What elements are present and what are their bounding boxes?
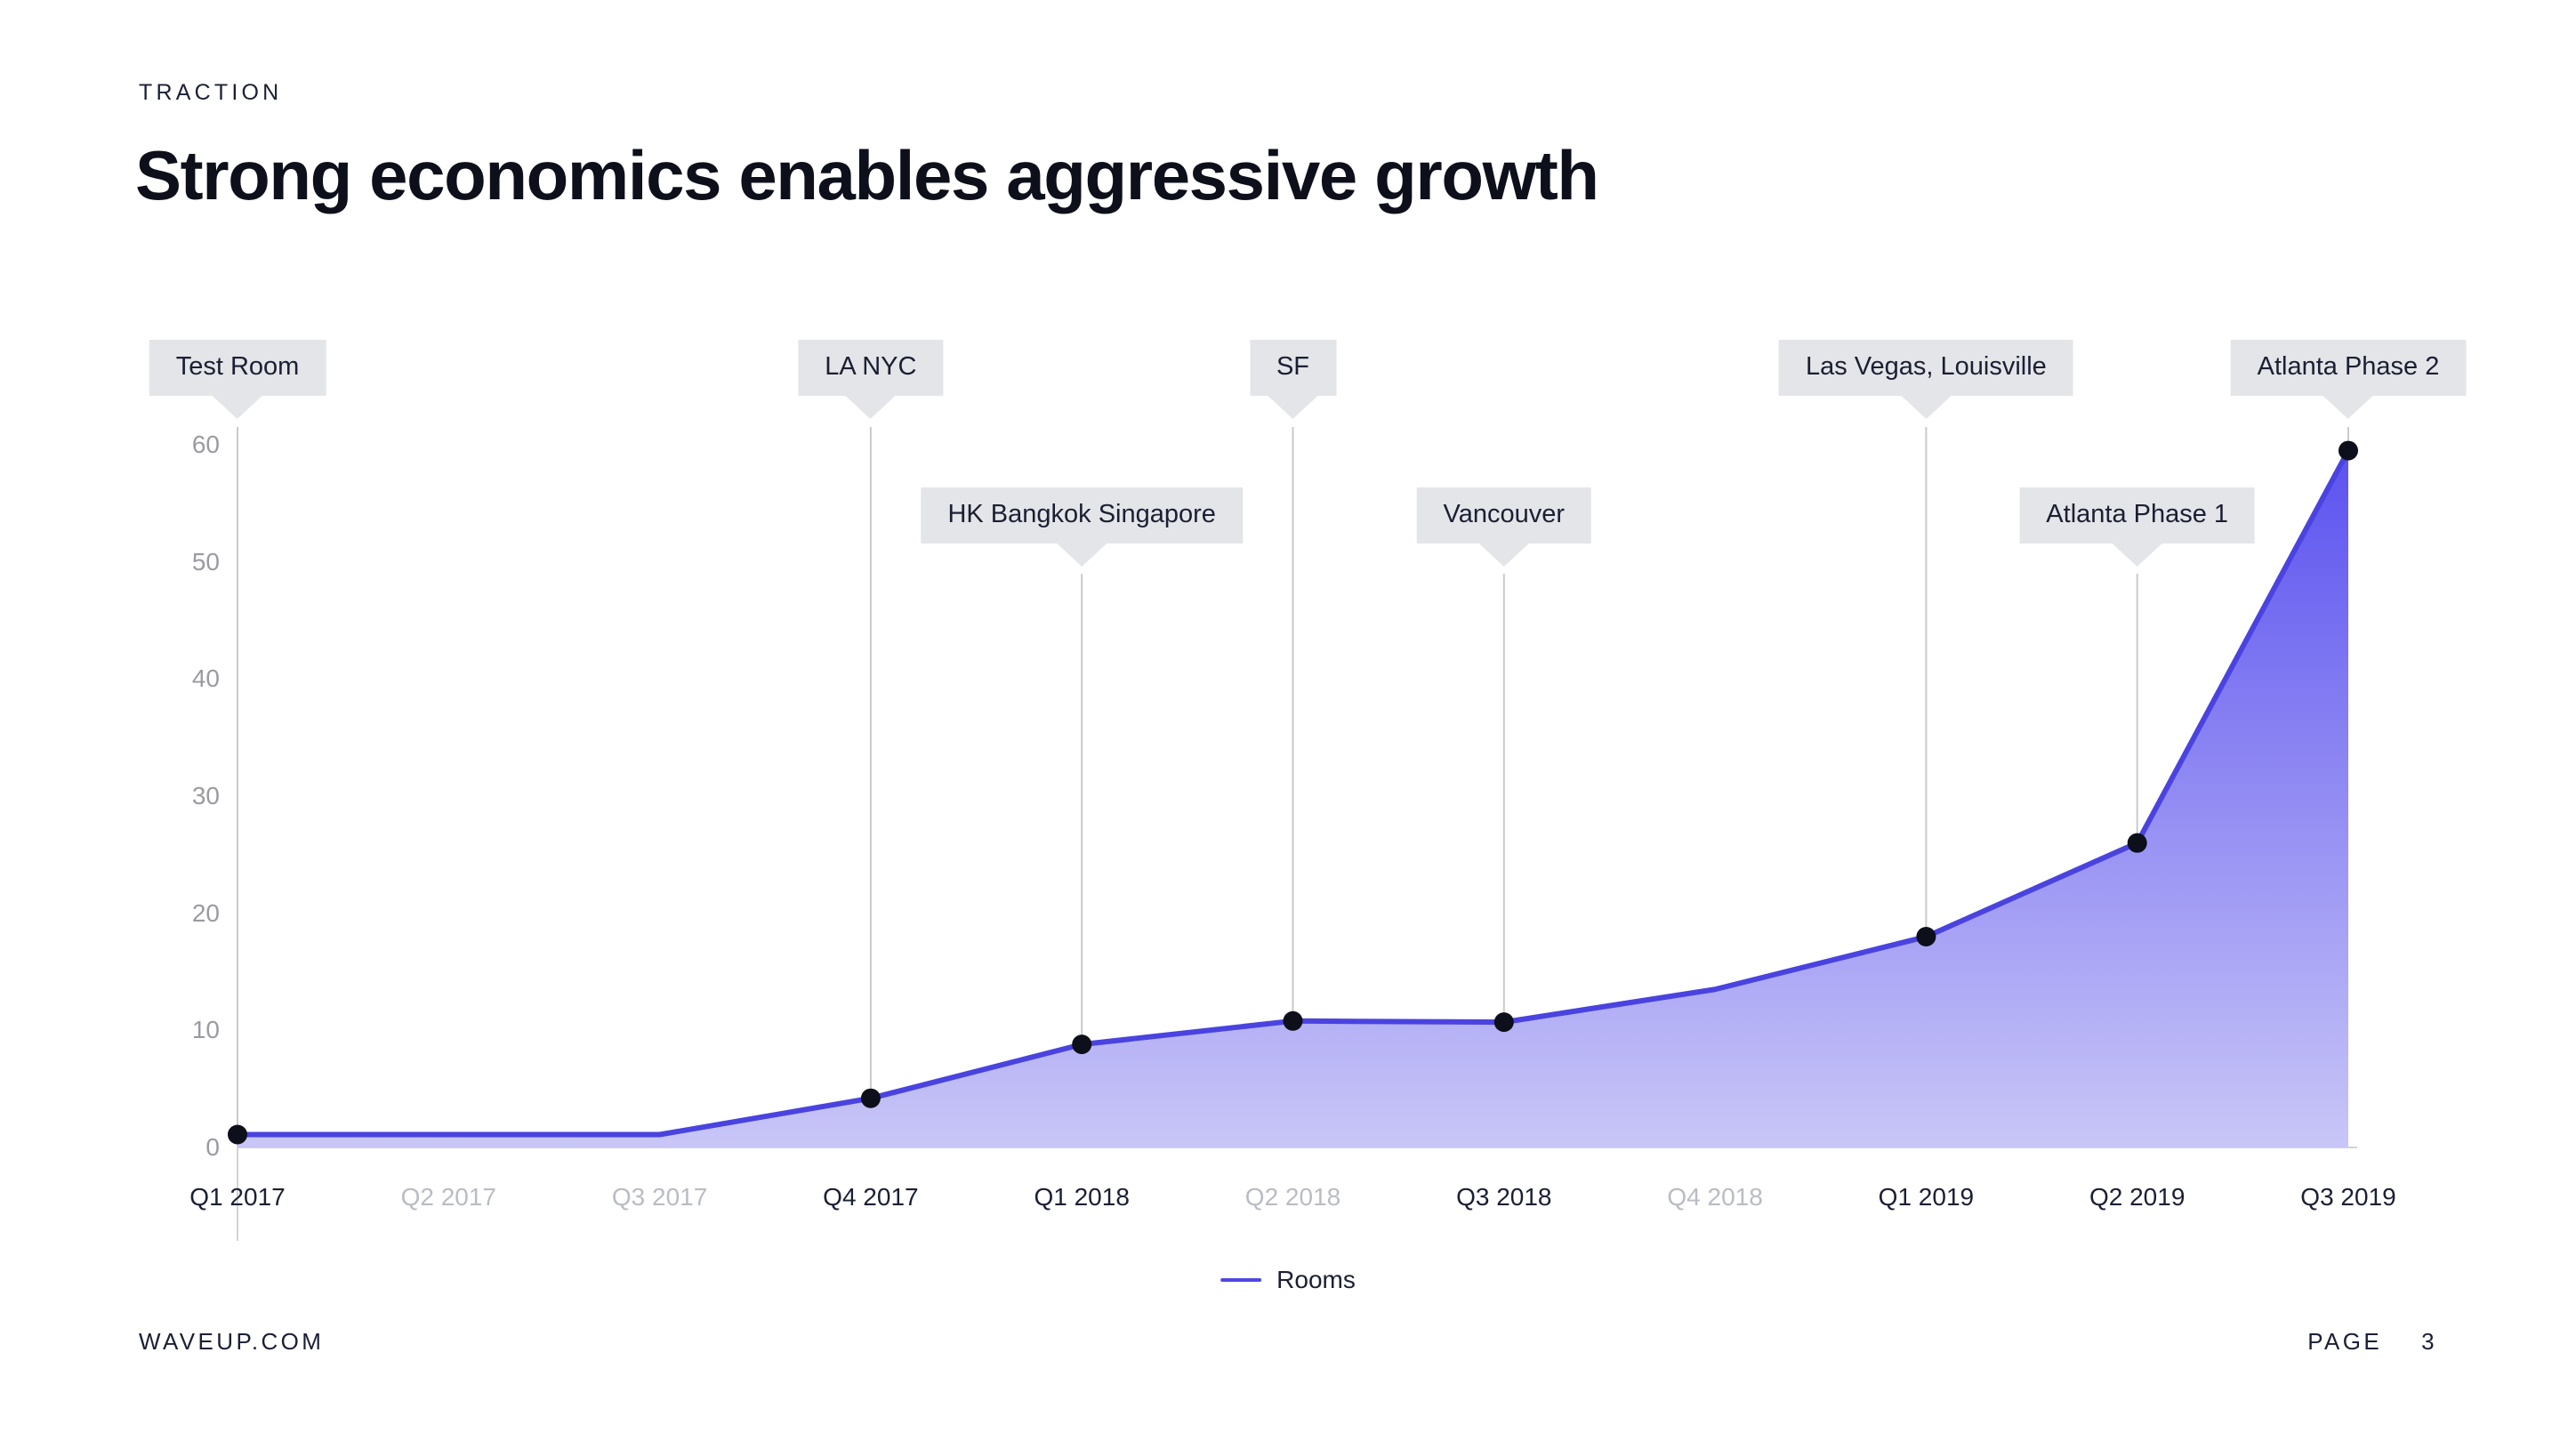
y-axis-tick: 30 [140, 782, 220, 810]
x-axis-tick: Q4 2017 [823, 1183, 918, 1212]
annotation-callout[interactable]: SF [1250, 340, 1336, 396]
area-chart [0, 0, 2576, 1441]
y-axis-tick: 60 [140, 431, 220, 459]
annotation-callout[interactable]: Atlanta Phase 2 [2231, 340, 2467, 396]
footer-page: PAGE 3 [2307, 1328, 2437, 1356]
page-label: PAGE [2307, 1328, 2382, 1356]
chart-container: 0102030405060 Q1 2017Q2 2017Q3 2017Q4 20… [0, 0, 2576, 1441]
chart-legend: Rooms [1220, 1266, 1356, 1294]
annotation-callout[interactable]: LA NYC [798, 340, 943, 396]
annotation-callout[interactable]: Vancouver [1417, 487, 1592, 543]
legend-line-icon [1220, 1278, 1261, 1282]
x-axis-tick: Q2 2017 [401, 1183, 496, 1212]
annotation-callout[interactable]: HK Bangkok Singapore [921, 487, 1242, 543]
x-axis-tick: Q1 2017 [189, 1183, 285, 1212]
x-axis-tick: Q1 2019 [1879, 1183, 1974, 1212]
x-axis-tick: Q1 2018 [1034, 1183, 1129, 1212]
page-title: Strong economics enables aggressive grow… [135, 138, 1598, 214]
slide-root: TRACTION Strong economics enables aggres… [0, 0, 2576, 1441]
x-axis-tick: Q2 2019 [2089, 1183, 2185, 1212]
annotation-callout[interactable]: Test Room [149, 340, 326, 396]
page-number: 3 [2421, 1328, 2437, 1356]
y-axis-tick: 50 [140, 548, 220, 576]
annotation-callout[interactable]: Las Vegas, Louisville [1779, 340, 2073, 396]
x-axis-tick: Q3 2019 [2300, 1183, 2395, 1212]
y-axis-tick: 20 [140, 899, 220, 928]
footer-site: WAVEUP.COM [139, 1328, 324, 1356]
x-axis-tick: Q3 2018 [1456, 1183, 1551, 1212]
y-axis-tick: 10 [140, 1016, 220, 1044]
y-axis-tick: 0 [140, 1133, 220, 1162]
x-axis-tick: Q4 2018 [1667, 1183, 1762, 1212]
y-axis-tick: 40 [140, 664, 220, 693]
x-axis-tick: Q3 2017 [612, 1183, 707, 1212]
slide-eyebrow: TRACTION [139, 80, 282, 106]
x-axis-tick: Q2 2018 [1245, 1183, 1340, 1212]
legend-item-label: Rooms [1276, 1266, 1356, 1294]
annotation-callout[interactable]: Atlanta Phase 1 [2019, 487, 2255, 543]
